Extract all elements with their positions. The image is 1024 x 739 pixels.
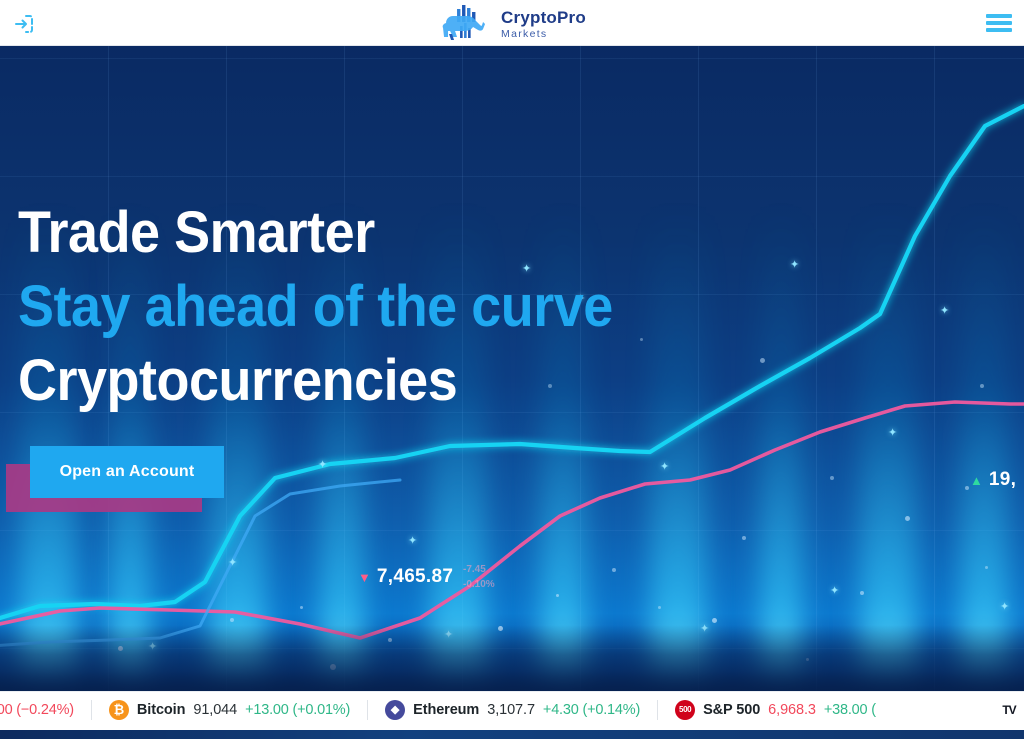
footer-navy-band [0, 730, 1024, 739]
annotation-change: -7.45 [463, 564, 495, 577]
ticker-label: S&P 500 [703, 702, 760, 718]
triangle-up-icon: ▲ [970, 473, 983, 488]
bitcoin-icon: ₿ [109, 700, 129, 720]
page-footer-strip [0, 727, 1024, 739]
open-an-account-button[interactable]: Open an Account [30, 446, 224, 498]
ticker-change: +38.00 ( [824, 702, 876, 718]
ticker-price: 3,107.7 [487, 702, 535, 718]
triangle-down-icon: ▼ [358, 570, 371, 585]
tradingview-badge-icon[interactable]: TV [988, 696, 1024, 724]
annotation-value: 19, [989, 469, 1016, 491]
ticker-label: Bitcoin [137, 702, 185, 718]
ticker-track: .16304 −0.00 (−0.24%) ₿ Bitcoin 91,044 +… [0, 692, 893, 728]
sp500-icon: 500 [675, 700, 695, 720]
hamburger-menu-icon[interactable] [986, 13, 1012, 33]
site-header: CryptoPro Markets [0, 0, 1024, 46]
chart-annotation-left: ▼ 7,465.87 [358, 566, 453, 588]
ticker-item-cut[interactable]: .16304 −0.00 (−0.24%) [0, 699, 91, 721]
bull-candlestick-logo-icon [438, 3, 494, 43]
hero-section: ✦ ✦ ✦ ✦ ✦ ✦ ✦ ✦ ✦ ✦ ✦ ✦ ✦ ✦ ▼ 7,465.87 -… [0, 46, 1024, 691]
headline-line-3: Cryptocurrencies [18, 344, 613, 418]
annotation-value: 7,465.87 [377, 566, 453, 588]
logo-subtitle: Markets [501, 29, 586, 40]
hero-bottom-shade [0, 625, 1024, 691]
hero-copy: Trade Smarter Stay ahead of the curve Cr… [18, 196, 658, 500]
ticker-label: Ethereum [413, 702, 479, 718]
ticker-item-sp500[interactable]: 500 S&P 500 6,968.3 +38.00 ( [658, 699, 893, 721]
chart-annotation-right: ▲ 19, [970, 469, 1016, 491]
logo-text: CryptoPro Markets [501, 7, 586, 40]
logo-title: CryptoPro [501, 9, 586, 26]
ticker-change: −0.00 (−0.24%) [0, 702, 74, 718]
hamburger-bar [986, 28, 1012, 32]
market-ticker-bar[interactable]: .16304 −0.00 (−0.24%) ₿ Bitcoin 91,044 +… [0, 691, 1024, 727]
ticker-price: 6,968.3 [768, 702, 816, 718]
headline-line-1: Trade Smarter [18, 196, 613, 270]
annotation-change-pct: -0.10% [463, 579, 495, 592]
ticker-item-ethereum[interactable]: ◆ Ethereum 3,107.7 +4.30 (+0.14%) [368, 699, 657, 721]
ticker-price: 91,044 [193, 702, 237, 718]
headline-line-2: Stay ahead of the curve [18, 270, 613, 344]
ticker-change: +13.00 (+0.01%) [245, 702, 350, 718]
ticker-change: +4.30 (+0.14%) [543, 702, 640, 718]
ethereum-icon: ◆ [385, 700, 405, 720]
chart-annotation-left-sub: -7.45 -0.10% [463, 564, 495, 591]
site-logo[interactable]: CryptoPro Markets [438, 2, 586, 44]
hamburger-bar [986, 21, 1012, 25]
hamburger-bar [986, 14, 1012, 18]
ticker-item-bitcoin[interactable]: ₿ Bitcoin 91,044 +13.00 (+0.01%) [92, 699, 367, 721]
sign-in-icon[interactable] [12, 11, 38, 37]
page-root: CryptoPro Markets [0, 0, 1024, 739]
cta-container: Open an Account [18, 446, 224, 500]
